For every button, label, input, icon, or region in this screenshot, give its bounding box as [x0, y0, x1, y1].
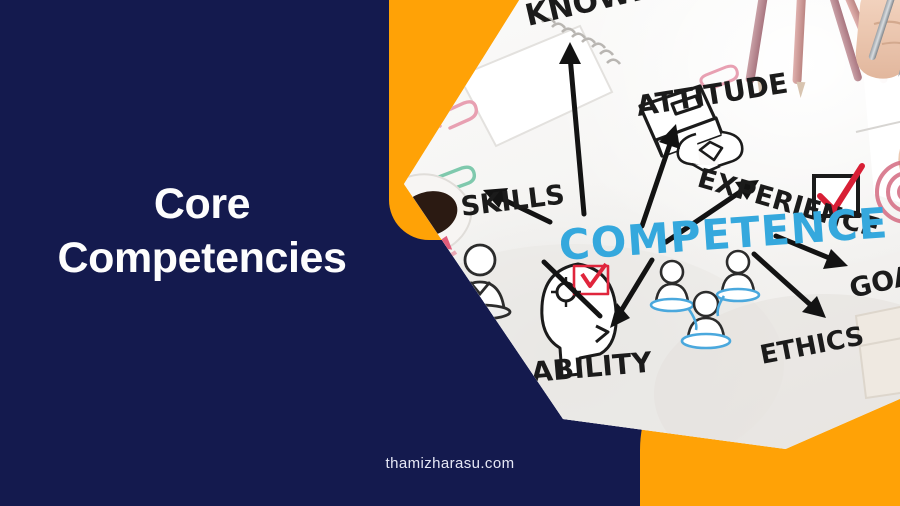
label-skills: SKILLS: [459, 179, 566, 222]
footer-website-url: thamizharasu.com: [0, 455, 900, 472]
hand-with-pen-icon: [856, 0, 900, 79]
page-title: Core Competencies: [0, 178, 404, 286]
title-line-1: Core: [0, 178, 404, 232]
core-competencies-banner: KNOWLEDGE ATTITUDE EXPERIENCE SKILLS GOA…: [0, 0, 900, 506]
label-goals: GOALS: [847, 252, 900, 305]
competence-diagram-svg: KNOWLEDGE ATTITUDE EXPERIENCE SKILLS GOA…: [404, 0, 900, 464]
label-knowledge: KNOWLEDGE: [522, 0, 741, 34]
title-line-2: Competencies: [0, 232, 404, 286]
competence-photo: KNOWLEDGE ATTITUDE EXPERIENCE SKILLS GOA…: [404, 0, 900, 464]
